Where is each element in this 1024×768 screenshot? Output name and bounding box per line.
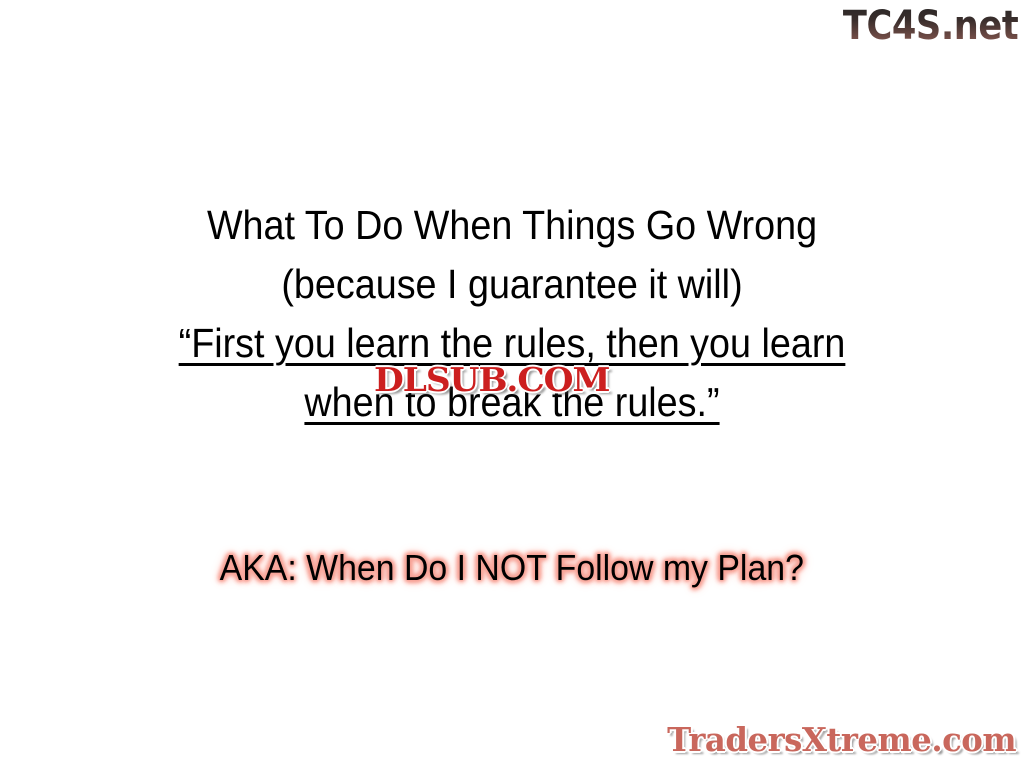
dlsub-watermark: DLSUB.COM	[374, 362, 609, 398]
body-line-2: (because I guarantee it will)	[41, 255, 983, 314]
presentation-slide: TC4S.net What To Do When Things Go Wrong…	[0, 0, 1024, 768]
aka-callout: AKA: When Do I NOT Follow my Plan?	[0, 546, 1024, 590]
body-line-1: What To Do When Things Go Wrong	[41, 196, 983, 255]
tradersxtreme-watermark: TradersXtreme.com	[667, 720, 1016, 760]
aka-callout-text: AKA: When Do I NOT Follow my Plan?	[220, 546, 804, 590]
tc4s-logo: TC4S.net	[843, 2, 1018, 50]
